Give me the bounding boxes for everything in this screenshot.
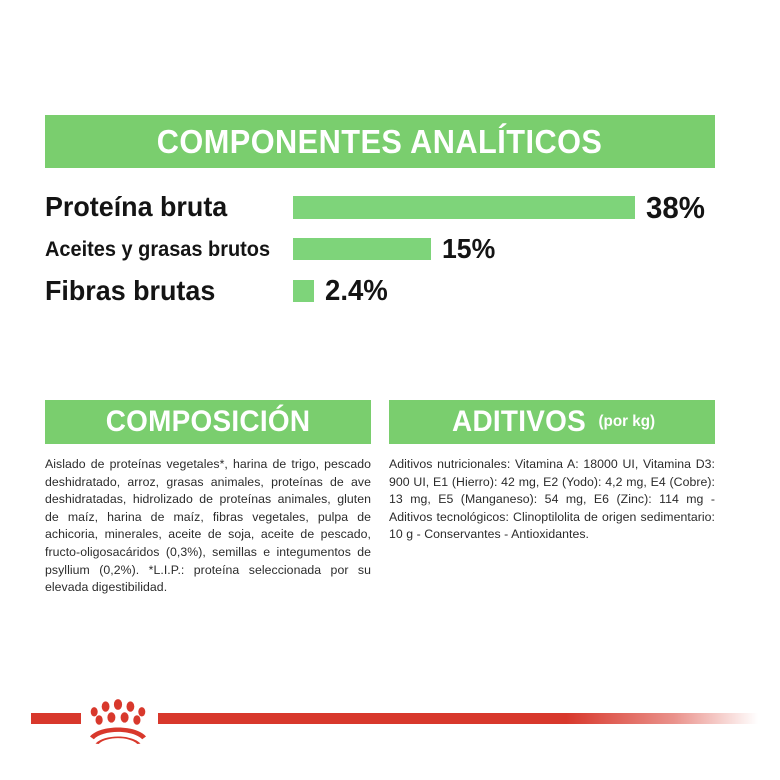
footer-brand-bar <box>0 693 780 753</box>
additives-banner: ADITIVOS (por kg) <box>389 400 715 444</box>
nutrient-row: Aceites y grasas brutos 15% <box>45 228 715 270</box>
brand-rule-right <box>158 713 758 724</box>
royal-canin-crown-icon <box>82 696 154 744</box>
composition-banner: COMPOSICIÓN <box>45 400 371 444</box>
nutrient-row: Proteína bruta 38% <box>45 186 715 228</box>
detail-columns: COMPOSICIÓN Aislado de proteínas vegetal… <box>45 400 715 609</box>
nutrient-value-fats: 15% <box>442 235 495 263</box>
nutrient-value-fibre: 2.4% <box>325 277 388 306</box>
additives-column: ADITIVOS (por kg) Aditivos nutricionales… <box>389 400 715 609</box>
analytical-components-title: COMPONENTES ANALÍTICOS <box>157 123 603 161</box>
composition-title: COMPOSICIÓN <box>106 405 311 439</box>
composition-body-text: Aislado de proteínas vegetales*, harina … <box>45 456 371 597</box>
analytical-components-section: COMPONENTES ANALÍTICOS Proteína bruta 38… <box>45 115 715 312</box>
additives-subtitle: (por kg) <box>599 413 656 431</box>
analytical-components-banner: COMPONENTES ANALÍTICOS <box>45 115 715 168</box>
composition-column: COMPOSICIÓN Aislado de proteínas vegetal… <box>45 400 371 609</box>
nutrient-label-fibre: Fibras brutas <box>45 277 283 305</box>
nutrient-bar-wrap: 15% <box>293 235 715 263</box>
additives-title: ADITIVOS <box>452 405 586 439</box>
brand-rule-left <box>31 713 81 724</box>
nutrient-bar-wrap: 2.4% <box>293 277 715 306</box>
nutrient-label-fats: Aceites y grasas brutos <box>45 239 281 260</box>
nutrient-label-protein: Proteína bruta <box>45 193 283 221</box>
nutrient-bar-fibre <box>293 280 314 302</box>
nutrient-bar-protein <box>293 196 635 219</box>
nutrient-value-protein: 38% <box>646 192 705 223</box>
nutrient-bar-fats <box>293 238 431 260</box>
additives-body-text: Aditivos nutricionales: Vitamina A: 1800… <box>389 456 715 544</box>
nutrient-row: Fibras brutas 2.4% <box>45 270 715 312</box>
nutrient-bar-chart: Proteína bruta 38% Aceites y grasas brut… <box>45 186 715 312</box>
nutrient-bar-wrap: 38% <box>293 192 715 223</box>
